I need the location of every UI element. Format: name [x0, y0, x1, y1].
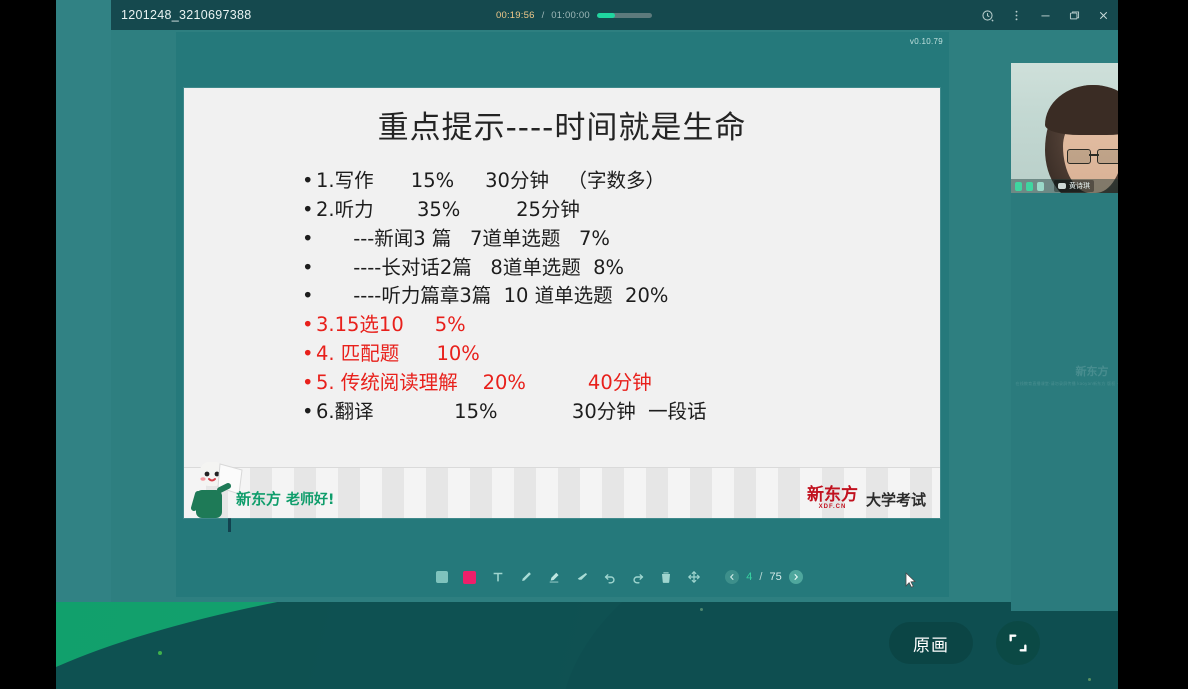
bullet-item: •5. 传统阅读理解 20% 40分钟	[302, 369, 940, 398]
xdf-logo: 新东方 XDF.CN	[807, 487, 858, 510]
playback-fill	[597, 13, 615, 18]
background-dot	[158, 651, 162, 655]
camera-center-watermark-text: 新东方	[1076, 365, 1109, 378]
total-pages: 75	[769, 571, 781, 583]
bullet-text: 5. 传统阅读理解 20% 40分钟	[316, 369, 652, 398]
mic-icon	[1026, 182, 1033, 191]
bullet-dot: •	[302, 254, 316, 283]
xdf-logo-cn: 新东方	[807, 487, 858, 504]
quality-label: 原画	[913, 631, 949, 656]
playback-current-time: 00:19:56	[496, 10, 535, 21]
slide-banner: 新东方 老师好! 新东方 XDF.CN 大学考试	[184, 467, 940, 518]
square-icon	[436, 571, 448, 583]
bullet-item: • ----听力篇章3篇 10 道单选题 20%	[302, 282, 940, 311]
undo-button[interactable]	[602, 570, 617, 585]
chevron-right-icon[interactable]	[789, 570, 803, 584]
banner-greeting: 老师好!	[286, 489, 334, 509]
bullet-text: 4. 匹配题 10%	[316, 340, 480, 369]
bullet-item: •2.听力 35% 25分钟	[302, 196, 940, 225]
bullet-item: •4. 匹配题 10%	[302, 340, 940, 369]
bullet-dot: •	[302, 369, 316, 398]
bullet-dot: •	[302, 398, 316, 427]
screen: 1201248_3210697388 00:19:56 / 01:00:00	[0, 0, 1188, 689]
teacher-glasses	[1067, 149, 1121, 163]
bullet-dot: •	[302, 196, 316, 225]
chevron-left-icon[interactable]	[725, 570, 739, 584]
slide-bullet-list: •1.写作 15% 30分钟 （字数多） •2.听力 35% 25分钟 • --…	[302, 167, 940, 427]
bullet-dot: •	[302, 225, 316, 254]
minimize-icon[interactable]	[1038, 8, 1052, 22]
xdf-logo-en: XDF.CN	[819, 504, 847, 510]
current-page: 4	[746, 571, 752, 583]
clock-history-icon[interactable]	[980, 8, 994, 22]
mouse-cursor	[905, 572, 917, 589]
bullet-item: •3.15选10 5%	[302, 311, 940, 340]
bullet-dot: •	[302, 311, 316, 340]
playback-track[interactable]	[597, 13, 652, 18]
whiteboard[interactable]: v0.10.79 重点提示----时间就是生命 •1.写作 15% 30分钟 （…	[176, 32, 949, 597]
bullet-text: 6.翻译 15% 30分钟 一段话	[316, 398, 707, 427]
bullet-dot: •	[302, 167, 316, 196]
letterbox-left	[0, 0, 56, 689]
bullet-text: 3.15选10 5%	[316, 311, 466, 340]
window-left-padding	[56, 0, 111, 602]
bullet-text: 1.写作 15% 30分钟 （字数多）	[316, 167, 665, 196]
letterbox-right	[1118, 0, 1188, 689]
text-tool[interactable]	[490, 570, 505, 585]
pen-tool[interactable]	[518, 570, 533, 585]
more-vertical-icon[interactable]	[1009, 8, 1023, 22]
banner-left: 新东方 老师好!	[236, 488, 334, 509]
slide-canvas[interactable]: 重点提示----时间就是生命 •1.写作 15% 30分钟 （字数多） •2.听…	[184, 88, 940, 518]
window-title: 1201248_3210697388	[121, 8, 252, 22]
participant-name: 黄诗琪	[1069, 181, 1090, 191]
version-label: v0.10.79	[910, 37, 943, 46]
color-swatch[interactable]	[462, 570, 477, 585]
bullet-text: ---新闻3 篇 7道单选题 7%	[316, 225, 610, 254]
participant-badge: 黄诗琪	[1054, 180, 1094, 192]
fullscreen-icon	[1007, 632, 1029, 654]
bullet-item: • ---新闻3 篇 7道单选题 7%	[302, 225, 940, 254]
bullet-text: 2.听力 35% 25分钟	[316, 196, 580, 225]
bullet-text: ----长对话2篇 8道单选题 8%	[316, 254, 624, 283]
playback-total-time: 01:00:00	[551, 10, 590, 21]
title-bar: 1201248_3210697388 00:19:56 / 01:00:00	[111, 0, 1118, 30]
bullet-dot: •	[302, 282, 316, 311]
banner-brand: 新东方	[236, 488, 281, 509]
fullscreen-button[interactable]	[996, 621, 1040, 665]
playback-progress[interactable]: 00:19:56 / 01:00:00	[496, 0, 652, 30]
restore-icon[interactable]	[1067, 8, 1081, 22]
redo-button[interactable]	[630, 570, 645, 585]
page-separator: /	[759, 571, 762, 583]
mic-badge-icon	[1058, 183, 1066, 189]
banner-right: 新东方 XDF.CN 大学考试	[807, 487, 926, 510]
banner-subtitle: 大学考试	[866, 489, 926, 510]
color-swatch-icon	[463, 571, 476, 584]
move-tool[interactable]	[686, 570, 701, 585]
delete-button[interactable]	[658, 570, 673, 585]
bullet-item: •6.翻译 15% 30分钟 一段话	[302, 398, 940, 427]
tool-icons	[434, 570, 701, 585]
shape-tool[interactable]	[434, 570, 449, 585]
bullet-text: ----听力篇章3篇 10 道单选题 20%	[316, 282, 668, 311]
background-dot	[700, 608, 703, 611]
close-icon[interactable]	[1096, 8, 1110, 22]
stage: v0.10.79 重点提示----时间就是生命 •1.写作 15% 30分钟 （…	[120, 30, 1118, 602]
signal-icon	[1015, 182, 1022, 191]
bullet-dot: •	[302, 340, 316, 369]
annotation-toolbar: 4 / 75	[232, 565, 1005, 589]
glasses-left-lens	[1067, 149, 1091, 164]
window-controls	[980, 0, 1110, 30]
eraser-tool[interactable]	[574, 570, 589, 585]
slide-title: 重点提示----时间就是生命	[184, 102, 940, 147]
playback-separator: /	[542, 10, 545, 21]
highlighter-tool[interactable]	[546, 570, 561, 585]
user-icon	[1037, 182, 1044, 191]
player-window: 1201248_3210697388 00:19:56 / 01:00:00	[56, 0, 1118, 602]
background-dot	[1088, 678, 1091, 681]
page-navigator: 4 / 75	[725, 570, 802, 584]
bullet-item: •1.写作 15% 30分钟 （字数多）	[302, 167, 940, 196]
bullet-item: • ----长对话2篇 8道单选题 8%	[302, 254, 940, 283]
quality-button[interactable]: 原画	[889, 622, 973, 664]
